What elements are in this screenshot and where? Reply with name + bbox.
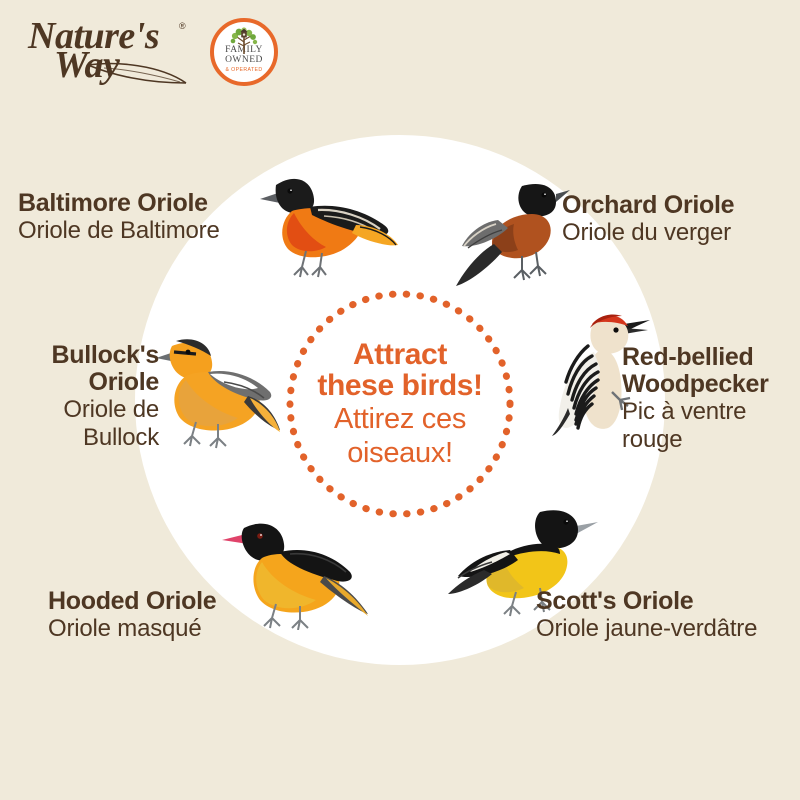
bird-label-orchard-oriole: Orchard Oriole Oriole du verger	[562, 192, 792, 247]
bird-name-en-line1: Red-bellied	[622, 344, 797, 371]
bird-name-fr: Oriole jaune-verdâtre	[536, 616, 800, 643]
badge-line-2: OWNED	[225, 56, 263, 66]
bird-label-bullocks-oriole: Bullock's Oriole Oriole de Bullock	[14, 342, 159, 452]
callout-fr-line2: oiseaux!	[347, 438, 453, 468]
bird-name-en: Scott's Oriole	[536, 588, 800, 615]
callout-text-group: Attract these birds! Attirez ces oiseaux…	[283, 287, 517, 521]
bird-name-en: Baltimore Oriole	[18, 190, 268, 217]
bird-name-fr-line2: Bullock	[14, 425, 159, 452]
bird-name-fr-line1: Oriole de	[14, 397, 159, 424]
registered-trademark-icon: ®	[179, 21, 186, 31]
bird-name-en: Orchard Oriole	[562, 192, 792, 219]
callout-fr-line1: Attirez ces	[334, 404, 466, 434]
bird-name-fr-line2: rouge	[622, 427, 797, 454]
callout-en-line2: these birds!	[317, 371, 482, 402]
callout-en-line1: Attract	[353, 340, 447, 371]
badge-line-3: & OPERATED	[225, 67, 262, 73]
bird-label-baltimore-oriole: Baltimore Oriole Oriole de Baltimore	[18, 190, 268, 245]
family-owned-badge: FAMILY OWNED & OPERATED	[210, 18, 278, 86]
product-feature-poster: Nature's Way ®	[0, 0, 800, 800]
bird-name-fr: Oriole du verger	[562, 220, 792, 247]
bird-name-fr: Oriole masqué	[48, 616, 298, 643]
bird-name-fr: Oriole de Baltimore	[18, 218, 268, 245]
tree-birdhouse-icon	[227, 27, 261, 54]
bullocks-oriole-illustration	[152, 330, 280, 458]
bird-label-hooded-oriole: Hooded Oriole Oriole masqué	[48, 588, 298, 643]
bird-name-fr-line1: Pic à ventre	[622, 399, 797, 426]
attract-birds-callout: Attract these birds! Attirez ces oiseaux…	[283, 287, 517, 521]
bird-name-en-line2: Woodpecker	[622, 371, 797, 398]
bird-label-scotts-oriole: Scott's Oriole Oriole jaune-verdâtre	[536, 588, 800, 643]
bird-label-red-bellied-woodpecker: Red-bellied Woodpecker Pic à ventre roug…	[622, 344, 797, 454]
brand-logo-group: Nature's Way ®	[28, 18, 278, 86]
bird-name-en-line2: Oriole	[14, 369, 159, 396]
orchard-oriole-illustration	[452, 170, 572, 290]
bird-name-en: Hooded Oriole	[48, 588, 298, 615]
natures-way-logo: Nature's Way ®	[28, 19, 188, 85]
bird-name-en-line1: Bullock's	[14, 342, 159, 369]
baltimore-oriole-illustration	[248, 163, 398, 288]
logo-line-2: Way	[54, 46, 119, 84]
